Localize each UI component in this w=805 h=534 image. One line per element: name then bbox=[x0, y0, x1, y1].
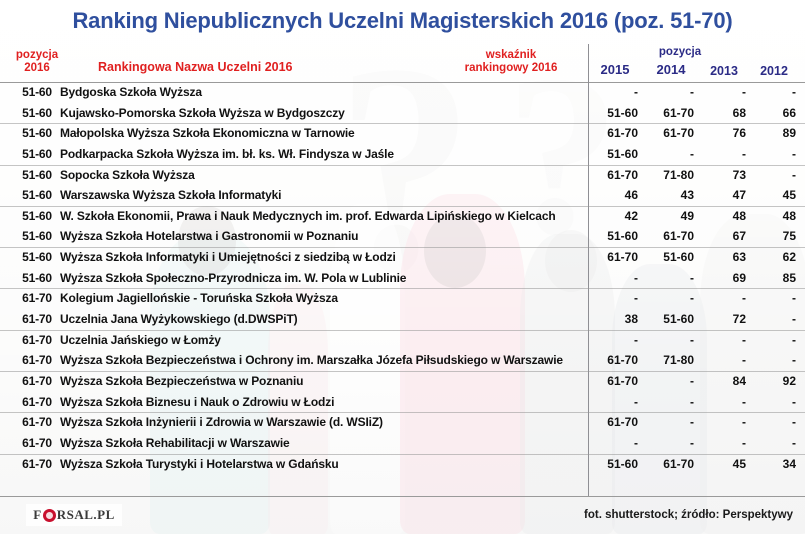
cell-2012: 62 bbox=[746, 250, 796, 264]
table-header: pozycja 2016 Rankingowa Nazwa Uczelni 20… bbox=[0, 44, 805, 83]
cell-2014: - bbox=[642, 436, 694, 450]
cell-rank-2016: 61-70 bbox=[8, 333, 66, 347]
cell-2013: 47 bbox=[696, 188, 746, 202]
table-bottom-rule bbox=[0, 496, 805, 497]
cell-university-name: Podkarpacka Szkoła Wyższa im. bł. ks. Wł… bbox=[60, 147, 580, 161]
table-row: 61-70Wyższa Szkoła Inżynierii i Zdrowia … bbox=[0, 413, 805, 434]
table-row: 61-70Wyższa Szkoła Bezpieczeństwa i Ochr… bbox=[0, 351, 805, 372]
cell-university-name: Wyższa Szkoła Rehabilitacji w Warszawie bbox=[60, 436, 580, 450]
cell-2014: - bbox=[642, 291, 694, 305]
cell-2012: 75 bbox=[746, 229, 796, 243]
forsal-logo-text-pre: F bbox=[33, 507, 41, 523]
cell-rank-2016: 51-60 bbox=[8, 188, 66, 202]
cell-2012: - bbox=[746, 333, 796, 347]
table-row: 61-70Wyższa Szkoła Bezpieczeństwa w Pozn… bbox=[0, 372, 805, 393]
cell-university-name: Uczelnia Jańskiego w Łomży bbox=[60, 333, 580, 347]
cell-university-name: Bydgoska Szkoła Wyższa bbox=[60, 85, 580, 99]
column-header-indicator-line1: wskaźnik bbox=[440, 49, 582, 62]
table-row: 51-60Warszawska Wyższa Szkoła Informatyk… bbox=[0, 186, 805, 207]
cell-2015: - bbox=[586, 395, 638, 409]
cell-2015: 46 bbox=[586, 188, 638, 202]
cell-rank-2016: 61-70 bbox=[8, 395, 66, 409]
table-row: 51-60Wyższa Szkoła Społeczno-Przyrodnicz… bbox=[0, 269, 805, 290]
cell-2012: 89 bbox=[746, 126, 796, 140]
cell-2014: 61-70 bbox=[642, 126, 694, 140]
cell-university-name: Warszawska Wyższa Szkoła Informatyki bbox=[60, 188, 580, 202]
cell-2014: 49 bbox=[642, 209, 694, 223]
cell-2014: - bbox=[642, 147, 694, 161]
cell-university-name: Kujawsko-Pomorska Szkoła Wyższa w Bydgos… bbox=[60, 106, 580, 120]
cell-2013: 48 bbox=[696, 209, 746, 223]
cell-university-name: Wyższa Szkoła Turystyki i Hotelarstwa w … bbox=[60, 457, 580, 471]
forsal-logo-text-post: RSAL.PL bbox=[57, 507, 115, 523]
cell-2012: 34 bbox=[746, 457, 796, 471]
cell-2014: 61-70 bbox=[642, 457, 694, 471]
cell-2013: 73 bbox=[696, 168, 746, 182]
cell-2015: 51-60 bbox=[586, 229, 638, 243]
column-header-position-group: pozycja bbox=[620, 46, 740, 58]
cell-2015: 51-60 bbox=[586, 147, 638, 161]
cell-university-name: Wyższa Szkoła Inżynierii i Zdrowia w War… bbox=[60, 415, 580, 429]
cell-university-name: Kolegium Jagiellońskie - Toruńska Szkoła… bbox=[60, 291, 580, 305]
cell-2013: 67 bbox=[696, 229, 746, 243]
table-row: 61-70Wyższa Szkoła Rehabilitacji w Warsz… bbox=[0, 434, 805, 455]
cell-2012: - bbox=[746, 312, 796, 326]
cell-university-name: W. Szkoła Ekonomii, Prawa i Nauk Medyczn… bbox=[60, 209, 580, 223]
cell-university-name: Wyższa Szkoła Społeczno-Przyrodnicza im.… bbox=[60, 271, 580, 285]
cell-rank-2016: 51-60 bbox=[8, 85, 66, 99]
cell-2014: 51-60 bbox=[642, 312, 694, 326]
cell-university-name: Wyższa Szkoła Biznesu i Nauk o Zdrowiu w… bbox=[60, 395, 580, 409]
cell-rank-2016: 61-70 bbox=[8, 457, 66, 471]
column-header-indicator: wskaźnik rankingowy 2016 bbox=[440, 49, 582, 75]
cell-2013: - bbox=[696, 415, 746, 429]
table-row: 61-70Wyższa Szkoła Biznesu i Nauk o Zdro… bbox=[0, 393, 805, 414]
cell-2013: - bbox=[696, 147, 746, 161]
cell-2014: - bbox=[642, 271, 694, 285]
table-row: 61-70Kolegium Jagiellońskie - Toruńska S… bbox=[0, 289, 805, 310]
table-row: 61-70Uczelnia Jana Wyżykowskiego (d.DWSP… bbox=[0, 310, 805, 331]
cell-2014: 51-60 bbox=[642, 250, 694, 264]
cell-rank-2016: 61-70 bbox=[8, 436, 66, 450]
cell-2012: - bbox=[746, 415, 796, 429]
cell-2015: 51-60 bbox=[586, 457, 638, 471]
cell-2014: 61-70 bbox=[642, 229, 694, 243]
table-row: 51-60W. Szkoła Ekonomii, Prawa i Nauk Me… bbox=[0, 207, 805, 228]
cell-2013: - bbox=[696, 291, 746, 305]
cell-rank-2016: 51-60 bbox=[8, 147, 66, 161]
column-header-position-2016: pozycja 2016 bbox=[8, 49, 66, 75]
cell-2013: - bbox=[696, 395, 746, 409]
cell-rank-2016: 51-60 bbox=[8, 271, 66, 285]
cell-2012: 48 bbox=[746, 209, 796, 223]
cell-university-name: Wyższa Szkoła Informatyki i Umiejętności… bbox=[60, 250, 580, 264]
cell-2013: 76 bbox=[696, 126, 746, 140]
cell-2015: 61-70 bbox=[586, 353, 638, 367]
cell-2015: 61-70 bbox=[586, 126, 638, 140]
cell-rank-2016: 61-70 bbox=[8, 374, 66, 388]
cell-2014: - bbox=[642, 395, 694, 409]
cell-rank-2016: 61-70 bbox=[8, 415, 66, 429]
cell-rank-2016: 51-60 bbox=[8, 106, 66, 120]
cell-2012: - bbox=[746, 147, 796, 161]
table-row: 51-60Małopolska Wyższa Szkoła Ekonomiczn… bbox=[0, 124, 805, 145]
forsal-logo[interactable]: F RSAL.PL bbox=[26, 504, 122, 526]
cell-2012: - bbox=[746, 291, 796, 305]
cell-rank-2016: 51-60 bbox=[8, 250, 66, 264]
cell-2013: 68 bbox=[696, 106, 746, 120]
cell-2015: - bbox=[586, 85, 638, 99]
cell-2012: 45 bbox=[746, 188, 796, 202]
cell-2013: - bbox=[696, 353, 746, 367]
cell-2012: - bbox=[746, 395, 796, 409]
cell-2015: 61-70 bbox=[586, 415, 638, 429]
column-header-university-name: Rankingowa Nazwa Uczelni 2016 bbox=[98, 61, 458, 74]
cell-rank-2016: 51-60 bbox=[8, 209, 66, 223]
column-header-2012: 2012 bbox=[752, 64, 796, 78]
table-row: 51-60Wyższa Szkoła Hotelarstwa i Gastron… bbox=[0, 227, 805, 248]
cell-rank-2016: 61-70 bbox=[8, 353, 66, 367]
cell-2013: - bbox=[696, 436, 746, 450]
cell-2015: 38 bbox=[586, 312, 638, 326]
table-row: 51-60Bydgoska Szkoła Wyższa---- bbox=[0, 83, 805, 104]
cell-2013: - bbox=[696, 85, 746, 99]
cell-2012: - bbox=[746, 168, 796, 182]
table-row: 61-70Wyższa Szkoła Turystyki i Hotelarst… bbox=[0, 455, 805, 476]
cell-university-name: Wyższa Szkoła Bezpieczeństwa i Ochrony i… bbox=[60, 353, 580, 367]
cell-2014: 61-70 bbox=[642, 106, 694, 120]
cell-2012: 85 bbox=[746, 271, 796, 285]
cell-2012: 66 bbox=[746, 106, 796, 120]
cell-2013: 84 bbox=[696, 374, 746, 388]
cell-2012: - bbox=[746, 85, 796, 99]
cell-university-name: Małopolska Wyższa Szkoła Ekonomiczna w T… bbox=[60, 126, 580, 140]
cell-2012: - bbox=[746, 436, 796, 450]
cell-2014: 71-80 bbox=[642, 353, 694, 367]
cell-2012: 92 bbox=[746, 374, 796, 388]
cell-2015: - bbox=[586, 436, 638, 450]
page-title: Ranking Niepublicznych Uczelni Magisters… bbox=[0, 8, 805, 34]
ranking-table: pozycja 2016 Rankingowa Nazwa Uczelni 20… bbox=[0, 44, 805, 83]
cell-rank-2016: 51-60 bbox=[8, 126, 66, 140]
cell-2014: 43 bbox=[642, 188, 694, 202]
infographic-canvas: ? ? Ranking Niepublicznych Uczelni Magis… bbox=[0, 0, 805, 534]
cell-2013: 69 bbox=[696, 271, 746, 285]
cell-university-name: Sopocka Szkoła Wyższa bbox=[60, 168, 580, 182]
cell-rank-2016: 51-60 bbox=[8, 229, 66, 243]
column-header-indicator-line2: rankingowy 2016 bbox=[440, 62, 582, 75]
cell-2014: - bbox=[642, 374, 694, 388]
column-header-position-2016-line1: pozycja bbox=[8, 49, 66, 62]
table-row: 51-60Kujawsko-Pomorska Szkoła Wyższa w B… bbox=[0, 104, 805, 125]
table-row: 51-60Podkarpacka Szkoła Wyższa im. bł. k… bbox=[0, 145, 805, 166]
cell-2012: - bbox=[746, 353, 796, 367]
cell-2014: 71-80 bbox=[642, 168, 694, 182]
cell-rank-2016: 61-70 bbox=[8, 291, 66, 305]
column-header-2015: 2015 bbox=[592, 62, 638, 77]
cell-2014: - bbox=[642, 85, 694, 99]
table-row: 51-60Wyższa Szkoła Informatyki i Umiejęt… bbox=[0, 248, 805, 269]
cell-university-name: Uczelnia Jana Wyżykowskiego (d.DWSPiT) bbox=[60, 312, 580, 326]
table-row: 51-60Sopocka Szkoła Wyższa61-7071-8073- bbox=[0, 166, 805, 187]
source-credit: fot. shutterstock; źródło: Perspektywy bbox=[584, 509, 793, 521]
cell-2014: - bbox=[642, 333, 694, 347]
cell-2015: 61-70 bbox=[586, 250, 638, 264]
cell-2014: - bbox=[642, 415, 694, 429]
column-header-2014: 2014 bbox=[648, 62, 694, 77]
table-row: 61-70Uczelnia Jańskiego w Łomży---- bbox=[0, 331, 805, 352]
cell-2013: 72 bbox=[696, 312, 746, 326]
cell-university-name: Wyższa Szkoła Hotelarstwa i Gastronomii … bbox=[60, 229, 580, 243]
column-header-position-2016-line2: 2016 bbox=[8, 62, 66, 75]
cell-2015: - bbox=[586, 291, 638, 305]
table-body: 51-60Bydgoska Szkoła Wyższa----51-60Kuja… bbox=[0, 83, 805, 475]
cell-2013: 63 bbox=[696, 250, 746, 264]
forsal-logo-circle-icon bbox=[43, 509, 56, 522]
cell-university-name: Wyższa Szkoła Bezpieczeństwa w Poznaniu bbox=[60, 374, 580, 388]
cell-2015: 42 bbox=[586, 209, 638, 223]
column-header-2013: 2013 bbox=[702, 64, 746, 78]
cell-2015: 61-70 bbox=[586, 374, 638, 388]
cell-2013: 45 bbox=[696, 457, 746, 471]
cell-rank-2016: 61-70 bbox=[8, 312, 66, 326]
cell-2015: - bbox=[586, 333, 638, 347]
cell-rank-2016: 51-60 bbox=[8, 168, 66, 182]
cell-2015: - bbox=[586, 271, 638, 285]
cell-2015: 61-70 bbox=[586, 168, 638, 182]
cell-2015: 51-60 bbox=[586, 106, 638, 120]
cell-2013: - bbox=[696, 333, 746, 347]
